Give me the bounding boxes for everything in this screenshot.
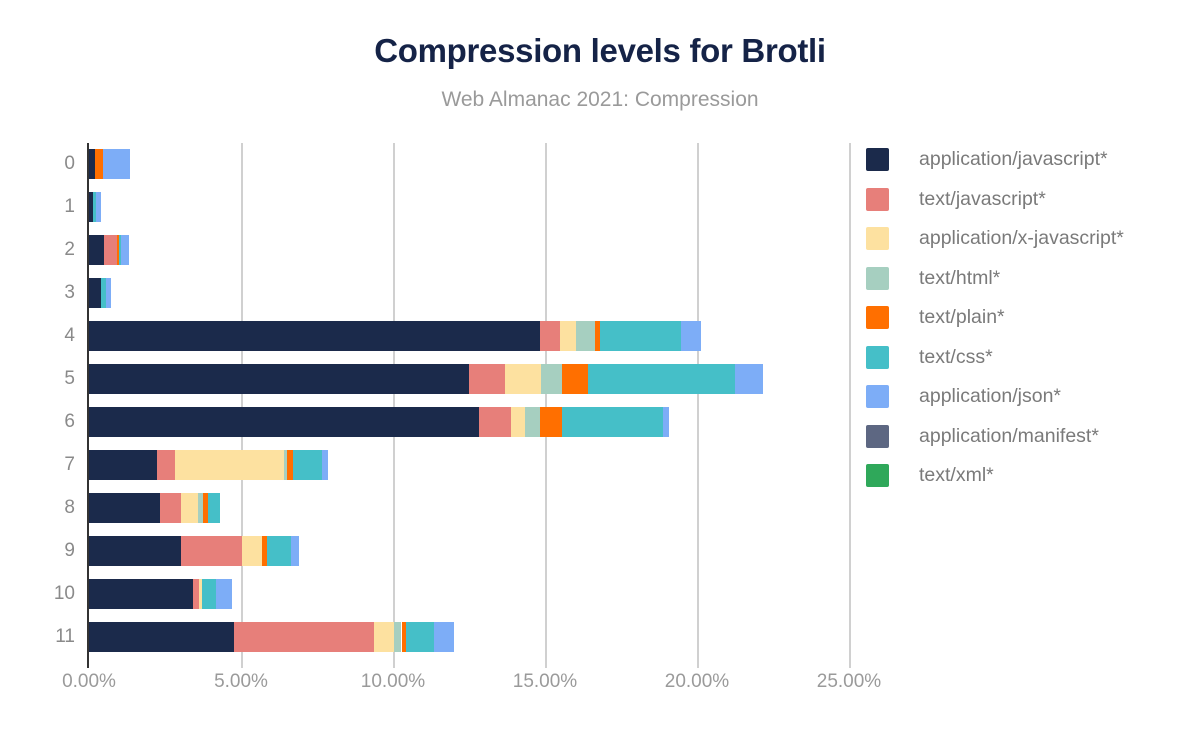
bar-row[interactable]: 7 [89,450,849,480]
y-tick-label: 9 [5,540,75,562]
bar-row[interactable]: 11 [89,622,849,652]
legend-swatch-icon [866,148,889,171]
legend-item[interactable]: text/plain* [866,298,1196,338]
chart-legend: application/javascript*text/javascript*a… [866,140,1196,496]
bar-row[interactable]: 4 [89,321,849,351]
legend-label: text/xml* [919,464,994,487]
legend-item[interactable]: application/x-javascript* [866,219,1196,259]
bar-segment[interactable] [540,321,559,351]
bar-segment[interactable] [406,622,434,652]
bar-row[interactable]: 2 [89,235,849,265]
x-tick-mark [393,658,395,668]
bar-segment[interactable] [600,321,681,351]
bar-segment[interactable] [89,278,101,308]
bar-segment[interactable] [576,321,595,351]
bar-segment[interactable] [322,450,328,480]
bar-row[interactable]: 3 [89,278,849,308]
legend-item[interactable]: application/manifest* [866,417,1196,457]
x-tick-label: 0.00% [34,671,144,693]
bar-segment[interactable] [525,407,541,437]
bar-segment[interactable] [511,407,525,437]
legend-swatch-icon [866,346,889,369]
bar-segment[interactable] [157,450,175,480]
bar-segment[interactable] [374,622,395,652]
legend-label: text/css* [919,346,993,369]
bar-segment[interactable] [540,407,562,437]
y-tick-label: 7 [5,454,75,476]
bar-segment[interactable] [89,536,181,566]
legend-item[interactable]: text/css* [866,338,1196,378]
bar-segment[interactable] [202,579,215,609]
legend-swatch-icon [866,306,889,329]
bar-segment[interactable] [89,407,479,437]
bar-segment[interactable] [216,579,232,609]
bar-segment[interactable] [89,450,157,480]
legend-label: text/javascript* [919,188,1046,211]
x-tick-mark [241,658,243,668]
legend-item[interactable]: application/json* [866,377,1196,417]
legend-item[interactable]: text/javascript* [866,180,1196,220]
bar-segment[interactable] [103,149,130,179]
bar-segment[interactable] [267,536,292,566]
bar-segment[interactable] [89,235,104,265]
y-tick-label: 0 [5,153,75,175]
bar-segment[interactable] [479,407,511,437]
x-tick-label: 25.00% [794,671,904,693]
chart-subtitle: Web Almanac 2021: Compression [0,88,1200,112]
legend-item[interactable]: text/xml* [866,456,1196,496]
bar-segment[interactable] [160,493,181,523]
legend-label: application/javascript* [919,148,1108,171]
legend-swatch-icon [866,464,889,487]
bar-segment[interactable] [89,321,540,351]
bar-segment[interactable] [541,364,562,394]
bar-segment[interactable] [293,450,322,480]
x-tick-label: 5.00% [186,671,296,693]
legend-swatch-icon [866,385,889,408]
bar-segment[interactable] [394,622,401,652]
bar-segment[interactable] [208,493,220,523]
bar-segment[interactable] [104,235,117,265]
bar-row[interactable]: 0 [89,149,849,179]
bar-segment[interactable] [663,407,669,437]
bar-segment[interactable] [234,622,373,652]
legend-swatch-icon [866,188,889,211]
bar-segment[interactable] [121,235,128,265]
legend-item[interactable]: text/html* [866,259,1196,299]
legend-label: application/json* [919,385,1061,408]
bar-row[interactable]: 1 [89,192,849,222]
legend-swatch-icon [866,227,889,250]
bar-segment[interactable] [181,536,242,566]
bar-segment[interactable] [89,493,160,523]
legend-label: text/html* [919,267,1000,290]
bar-segment[interactable] [562,407,663,437]
bar-segment[interactable] [562,364,588,394]
bar-segment[interactable] [434,622,455,652]
y-tick-label: 8 [5,497,75,519]
bar-row[interactable]: 10 [89,579,849,609]
x-tick-label: 20.00% [642,671,752,693]
bar-segment[interactable] [588,364,735,394]
bar-segment[interactable] [95,149,103,179]
legend-swatch-icon [866,267,889,290]
bar-segment[interactable] [89,364,469,394]
y-tick-label: 5 [5,368,75,390]
bar-segment[interactable] [175,450,284,480]
legend-label: text/plain* [919,306,1005,329]
x-tick-label: 15.00% [490,671,600,693]
y-tick-label: 10 [5,583,75,605]
bar-row[interactable]: 9 [89,536,849,566]
bar-segment[interactable] [89,579,193,609]
y-tick-label: 4 [5,325,75,347]
x-tick-mark [545,658,547,668]
legend-label: application/x-javascript* [919,227,1124,250]
gridline [849,143,851,658]
legend-item[interactable]: application/javascript* [866,140,1196,180]
bar-segment[interactable] [242,536,263,566]
bar-segment[interactable] [681,321,700,351]
chart-canvas: Compression levels for Brotli Web Almana… [0,0,1200,742]
plot-area: 0.00%5.00%10.00%15.00%20.00%25.00% 01234… [89,143,849,658]
bar-row[interactable]: 5 [89,364,849,394]
x-tick-mark [849,658,851,668]
x-tick-label: 10.00% [338,671,448,693]
bar-segment[interactable] [181,493,199,523]
y-tick-label: 6 [5,411,75,433]
bar-row[interactable]: 8 [89,493,849,523]
x-tick-mark [87,658,89,668]
legend-swatch-icon [866,425,889,448]
bar-segment[interactable] [96,192,101,222]
y-tick-label: 1 [5,196,75,218]
y-tick-label: 3 [5,282,75,304]
bar-row[interactable]: 6 [89,407,849,437]
bar-segment[interactable] [106,278,111,308]
chart-title: Compression levels for Brotli [0,32,1200,70]
bar-segment[interactable] [505,364,541,394]
y-tick-label: 2 [5,239,75,261]
bar-segment[interactable] [560,321,576,351]
x-tick-mark [697,658,699,668]
bar-segment[interactable] [735,364,763,394]
y-tick-label: 11 [5,626,75,648]
bar-segment[interactable] [469,364,505,394]
legend-label: application/manifest* [919,425,1099,448]
bar-segment[interactable] [291,536,299,566]
bar-segment[interactable] [89,622,234,652]
